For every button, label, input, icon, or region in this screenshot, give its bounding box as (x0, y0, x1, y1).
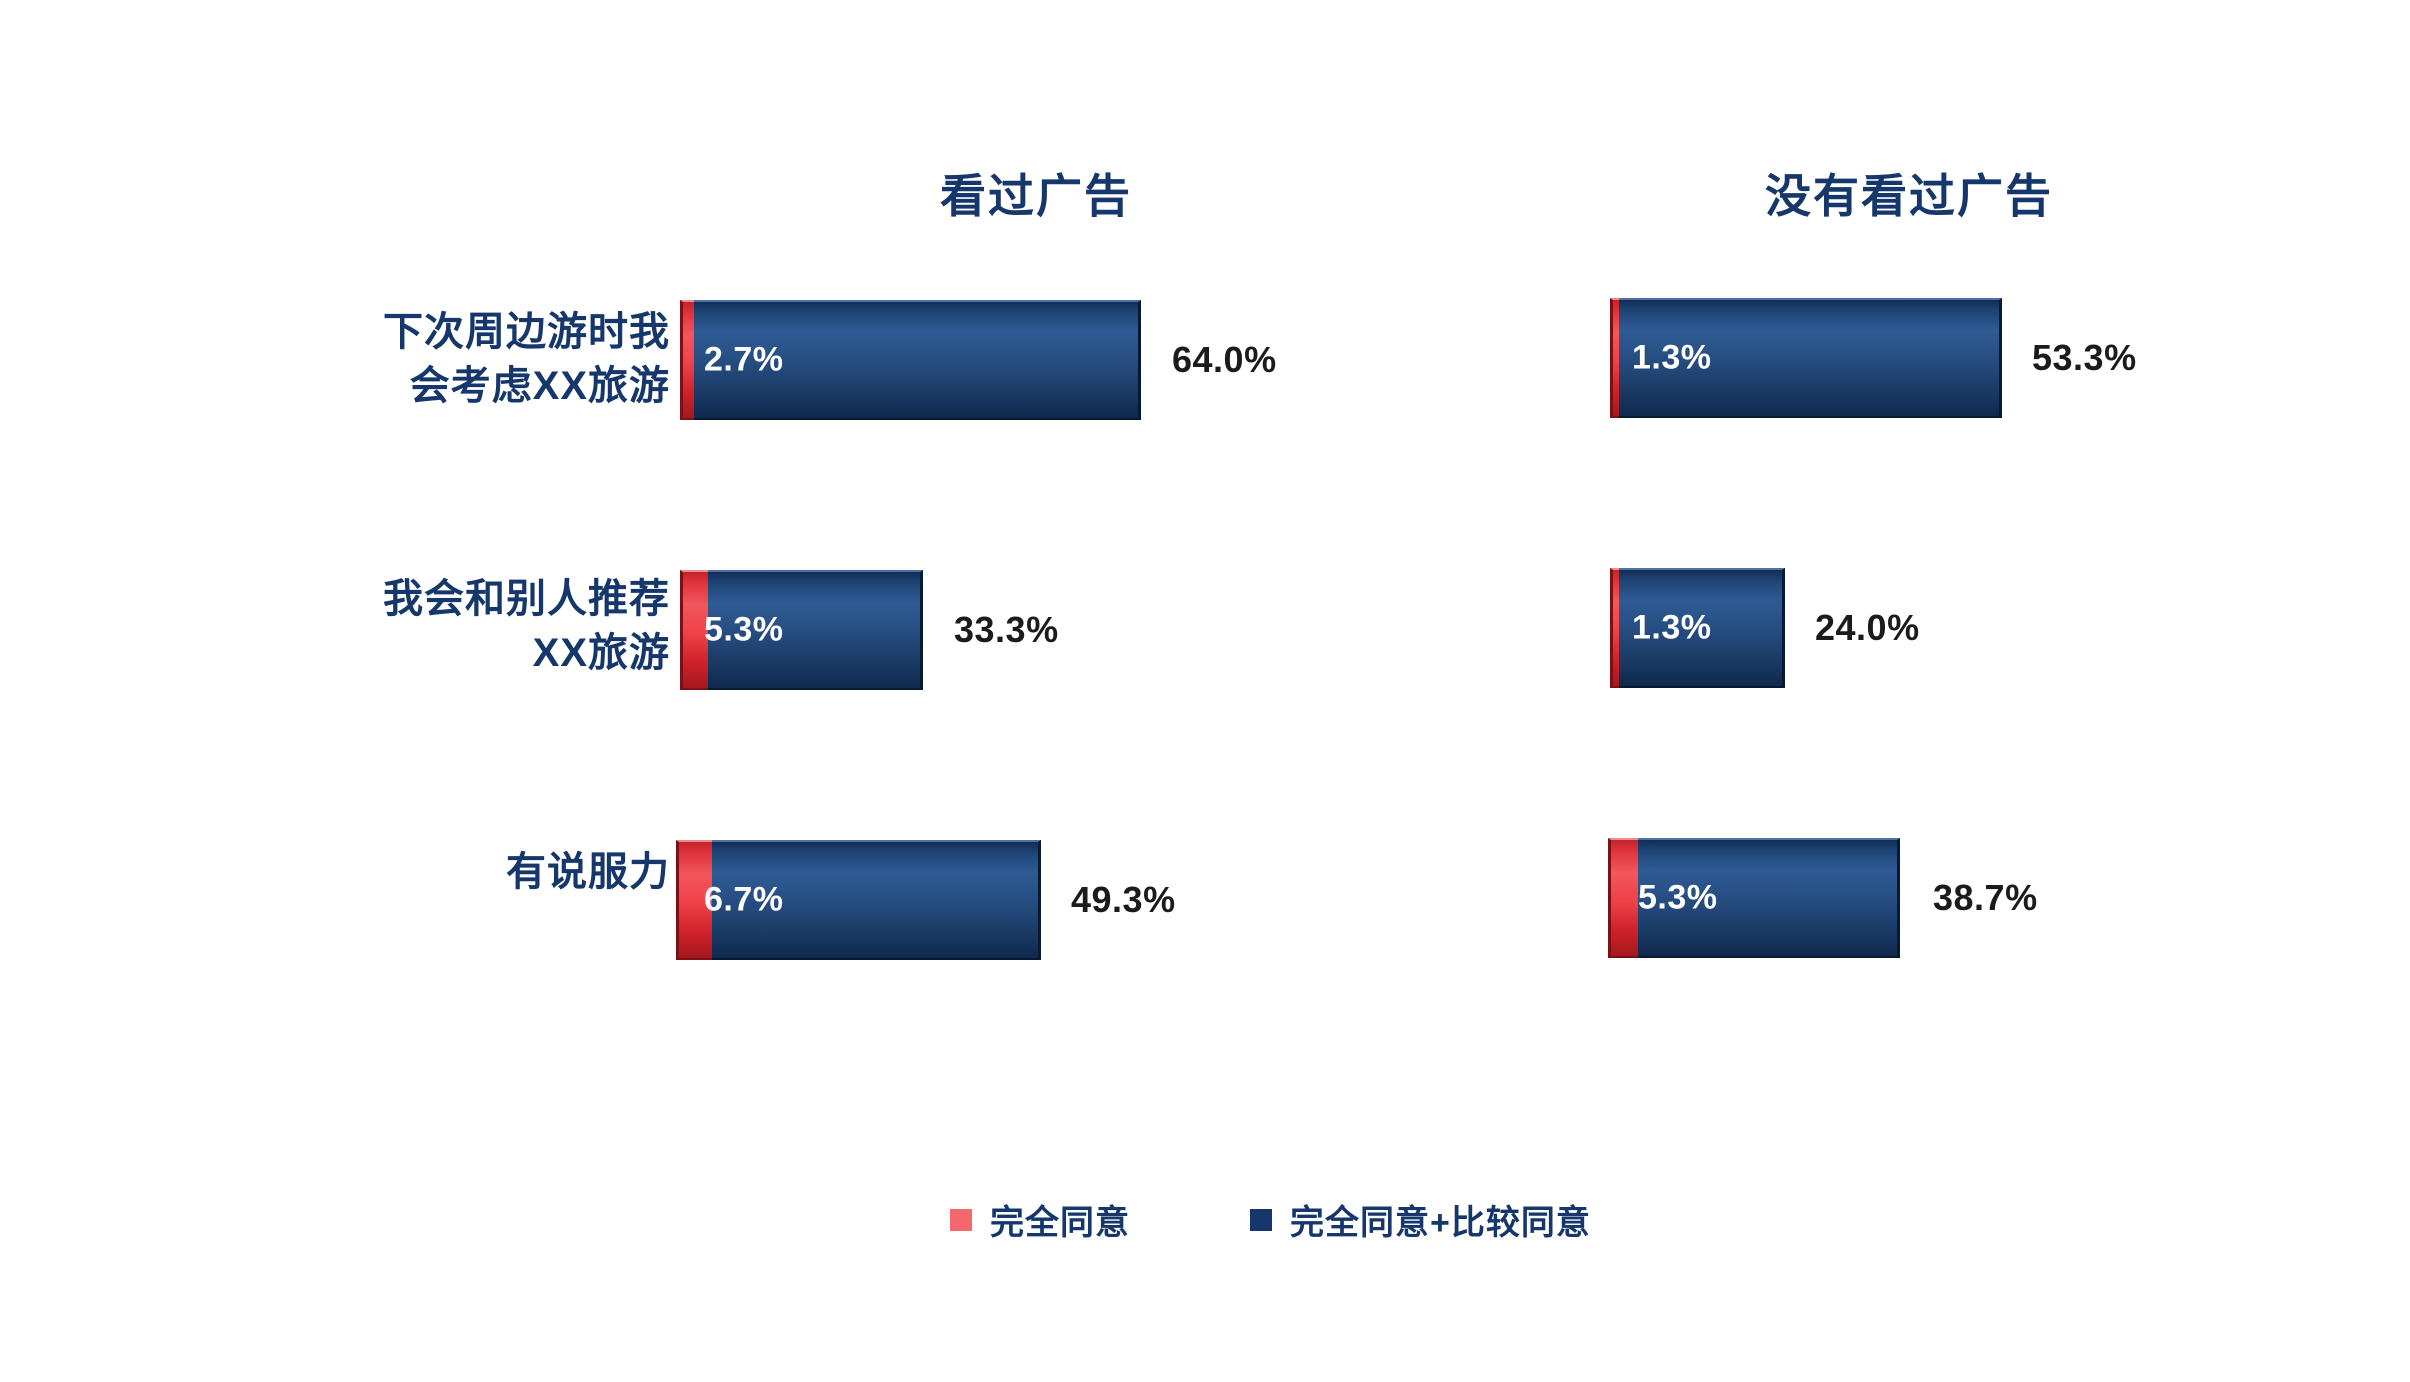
column-header-unseen: 没有看过广告 (1765, 160, 2053, 226)
legend-item-strong-agree[interactable]: 完全同意 (950, 1195, 1130, 1244)
bar-total-value-unseen-1: 53.3% (2032, 337, 2137, 379)
legend-label-strong-agree: 完全同意 (990, 1195, 1130, 1244)
bar-inner-value-seen-2: 5.3% (704, 611, 784, 650)
bar-total-value-seen-3: 49.3% (1071, 879, 1176, 921)
bar-inner-value-seen-3: 6.7% (704, 881, 784, 920)
slide-canvas: 看过广告 没有看过广告 下次周边游时我 会考虑XX旅游 2.7% 64.0% 1… (0, 0, 2410, 1382)
row-label-1-line1: 下次周边游时我 (240, 305, 670, 359)
row-label-3: 有说服力 (240, 845, 670, 899)
bar-segment-strong-unseen-1[interactable] (1610, 298, 1619, 418)
bar-inner-value-unseen-1: 1.3% (1632, 339, 1712, 378)
bar-total-value-unseen-2: 24.0% (1815, 607, 1920, 649)
bar-inner-value-seen-1: 2.7% (704, 341, 784, 380)
legend-label-total-agree: 完全同意+比较同意 (1290, 1195, 1591, 1244)
bar-total-value-seen-1: 64.0% (1172, 339, 1277, 381)
bar-total-value-seen-2: 33.3% (954, 609, 1059, 651)
legend-swatch-icon-blue (1250, 1209, 1272, 1231)
row-label-3-line1: 有说服力 (240, 845, 670, 899)
legend-swatch-icon-red (950, 1209, 972, 1231)
chart-legend: 完全同意 完全同意+比较同意 (950, 1195, 1591, 1244)
row-label-2-line2: XX旅游 (240, 626, 670, 680)
bar-segment-strong-unseen-2[interactable] (1610, 568, 1619, 688)
row-label-2: 我会和别人推荐 XX旅游 (240, 572, 670, 680)
row-label-1-line2: 会考虑XX旅游 (240, 359, 670, 413)
row-label-2-line1: 我会和别人推荐 (240, 572, 670, 626)
bar-inner-value-unseen-2: 1.3% (1632, 609, 1712, 648)
bar-total-value-unseen-3: 38.7% (1933, 877, 2038, 919)
column-header-seen: 看过广告 (940, 160, 1132, 226)
row-label-1: 下次周边游时我 会考虑XX旅游 (240, 305, 670, 413)
bar-segment-strong-seen-1[interactable] (680, 300, 694, 420)
bar-inner-value-unseen-3: 5.3% (1638, 879, 1718, 918)
bar-segment-strong-unseen-3[interactable] (1608, 838, 1638, 958)
legend-item-total-agree[interactable]: 完全同意+比较同意 (1250, 1195, 1591, 1244)
